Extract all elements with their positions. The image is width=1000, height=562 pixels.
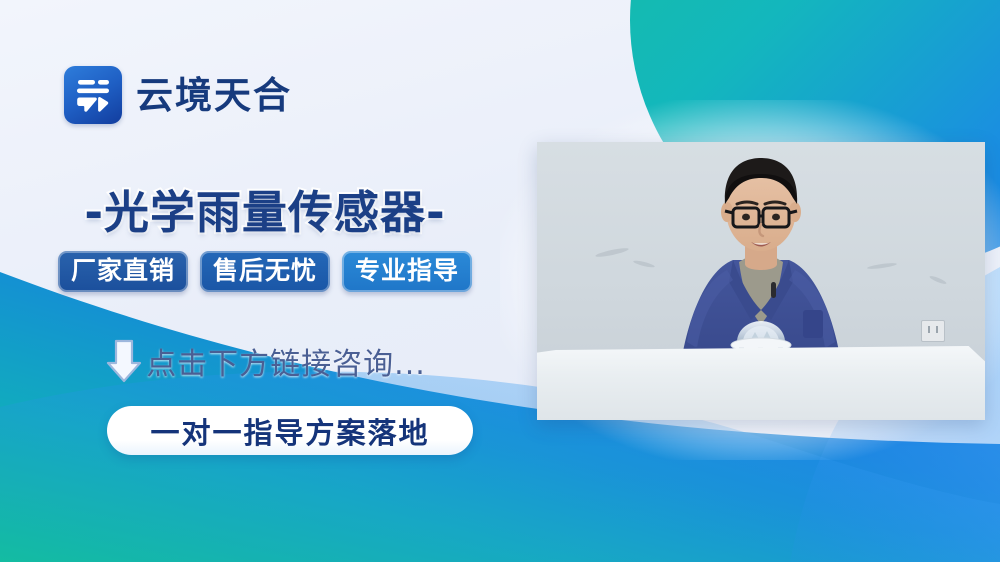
brand-name: 云境天合 (136, 77, 292, 114)
video-table (537, 346, 985, 420)
arrow-down-icon (104, 337, 144, 385)
badge-factory-direct[interactable]: 厂家直销 (58, 251, 188, 292)
one-on-one-pill[interactable]: 一对一指导方案落地 (107, 406, 473, 455)
cta-line: 点击下方链接咨询... (0, 337, 530, 385)
video-panel[interactable] (537, 142, 985, 420)
one-on-one-pill-label: 一对一指导方案落地 (150, 410, 429, 452)
brand-logo[interactable]: 云境天合 (64, 66, 292, 124)
promo-banner: 云境天合 -光学雨量传感器- 厂家直销 售后无忧 专业指导 点击下方链接咨询..… (0, 0, 1000, 562)
page-title: -光学雨量传感器- (0, 176, 530, 241)
cloud-logo-mark-icon (64, 66, 122, 124)
badge-after-sales[interactable]: 售后无忧 (200, 251, 330, 292)
badge-professional-guidance[interactable]: 专业指导 (342, 251, 472, 292)
feature-badges: 厂家直销 售后无忧 专业指导 (0, 251, 530, 292)
cta-text: 点击下方链接咨询... (146, 339, 426, 383)
